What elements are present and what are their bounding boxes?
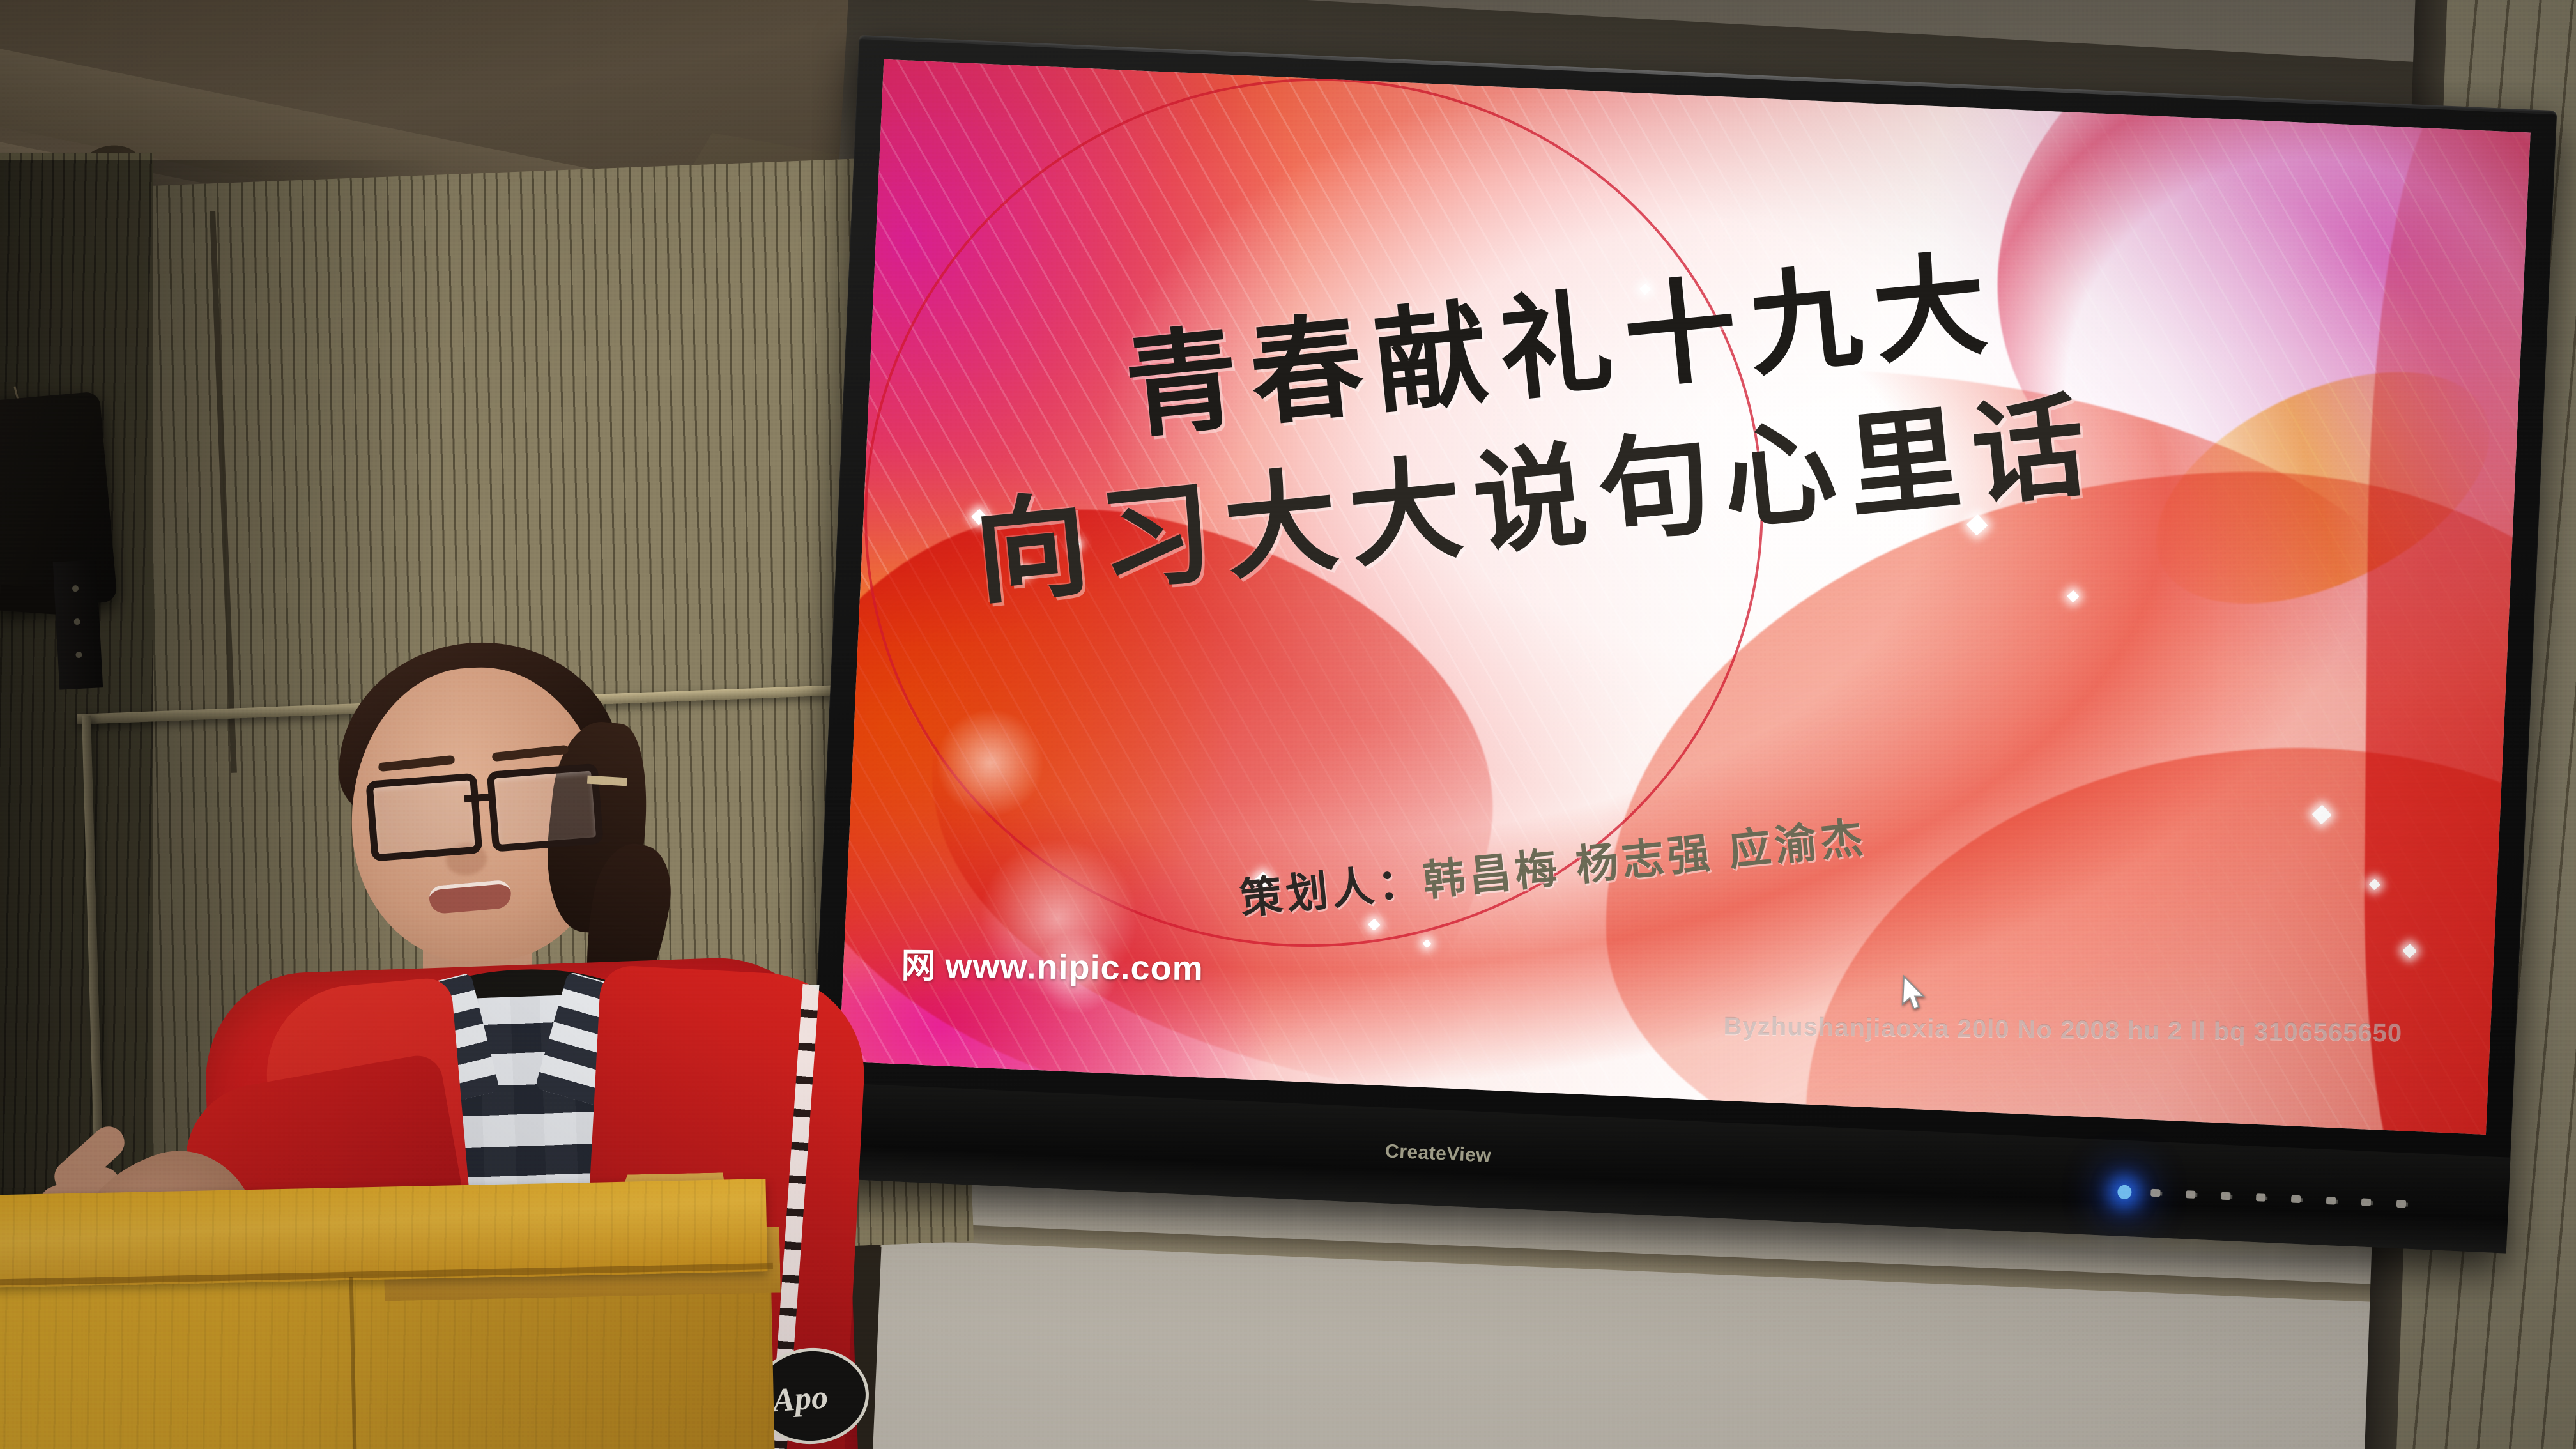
display-button[interactable] [2291, 1195, 2301, 1204]
display-button[interactable] [2256, 1193, 2266, 1202]
display-button[interactable] [2150, 1189, 2161, 1197]
display-button[interactable] [2186, 1190, 2196, 1199]
presentation-slide: 青春献礼十九大 向习大大说句心里话 策划人：韩昌梅 杨志强 应渝杰 网www.n… [839, 59, 2531, 1135]
display-button[interactable] [2361, 1198, 2372, 1206]
display-control-buttons[interactable] [2150, 1188, 2406, 1209]
flat-panel-display[interactable]: 青春献礼十九大 向习大大说句心里话 策划人：韩昌梅 杨志强 应渝杰 网www.n… [808, 35, 2557, 1253]
display-button[interactable] [2326, 1197, 2336, 1205]
eyeglass-lens-left [365, 773, 482, 862]
watermark-nipic-url: www.nipic.com [945, 947, 1204, 988]
arrow-cursor-icon [1900, 974, 1931, 1014]
eyeglass-lens-right [487, 763, 604, 852]
display-button[interactable] [2396, 1200, 2407, 1208]
speaker-mount-bracket [53, 560, 103, 689]
lectern [0, 1187, 799, 1449]
display-brand-label: CreateView [1384, 1140, 1492, 1167]
eyeglass-bridge [464, 793, 490, 802]
display-button[interactable] [2221, 1192, 2231, 1200]
screenshot-root: 青春献礼十九大 向习大大说句心里话 策划人：韩昌梅 杨志强 应渝杰 网www.n… [0, 0, 2576, 1449]
display-screen[interactable]: 青春献礼十九大 向习大大说句心里话 策划人：韩昌梅 杨志强 应渝杰 网www.n… [839, 59, 2531, 1135]
power-led-indicator [2117, 1184, 2132, 1199]
